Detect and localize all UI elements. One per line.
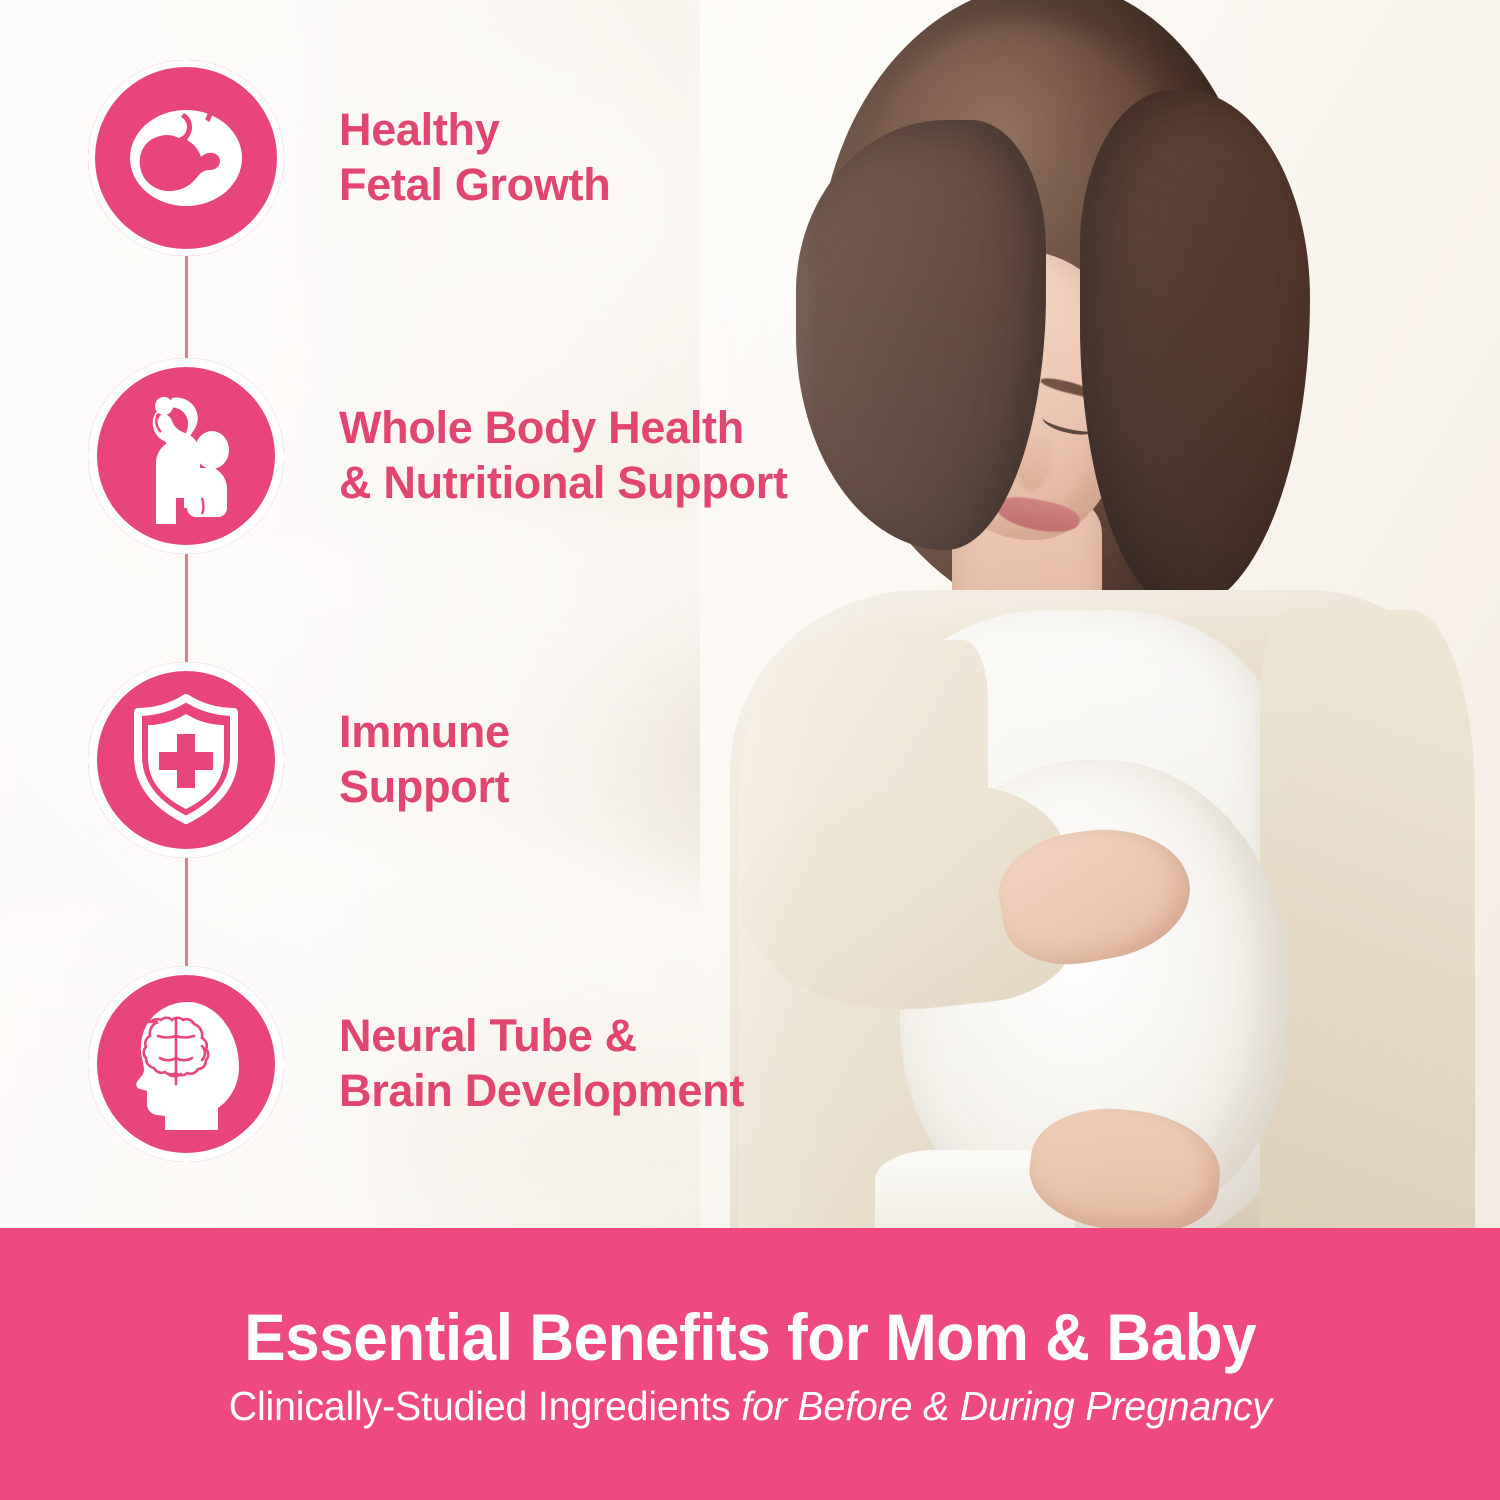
head-with-brain-icon xyxy=(88,966,284,1162)
benefit-label-whole-body-health: Whole Body Health & Nutritional Support xyxy=(339,401,788,511)
benefit-label-fetal-growth: Healthy Fetal Growth xyxy=(339,103,610,213)
shield-with-cross-icon xyxy=(88,662,284,858)
benefit-row-whole-body-health: Whole Body Health & Nutritional Support xyxy=(88,358,788,554)
infographic-root: Healthy Fetal Growth Whole Body Health &… xyxy=(0,0,1500,1500)
fetus-in-womb-icon xyxy=(88,60,284,256)
banner-title: Essential Benefits for Mom & Baby xyxy=(244,1299,1256,1375)
cardigan-right-panel xyxy=(1260,610,1475,1240)
benefit-row-immune-support: Immune Support xyxy=(88,662,510,858)
pregnant-woman-photo xyxy=(700,0,1500,1240)
benefit-row-fetal-growth: Healthy Fetal Growth xyxy=(88,60,610,256)
benefit-label-immune-support: Immune Support xyxy=(339,705,510,815)
banner-subtitle-regular: Clinically-Studied Ingredients xyxy=(228,1383,741,1429)
benefit-label-neural-tube: Neural Tube & Brain Development xyxy=(339,1009,744,1119)
benefit-row-neural-tube: Neural Tube & Brain Development xyxy=(88,966,744,1162)
banner-subtitle-italic: for Before & During Pregnancy xyxy=(741,1383,1271,1429)
banner-subtitle: Clinically-Studied Ingredients for Befor… xyxy=(228,1383,1271,1430)
bottom-banner: Essential Benefits for Mom & Baby Clinic… xyxy=(0,1228,1500,1500)
mother-holding-baby-icon xyxy=(88,358,284,554)
